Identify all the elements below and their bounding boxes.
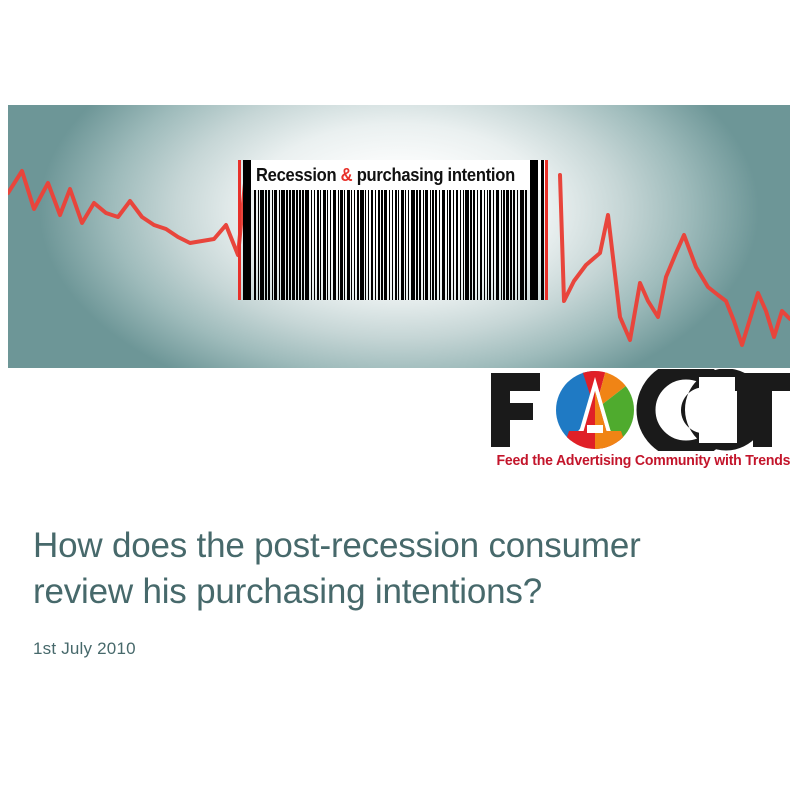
barcode-bar bbox=[401, 190, 404, 300]
barcode-bar bbox=[501, 190, 502, 300]
barcode-bar bbox=[268, 190, 270, 300]
barcode-bar bbox=[378, 190, 380, 300]
logo-letter-a-colorwheel bbox=[541, 369, 647, 451]
barcode-bar bbox=[449, 190, 451, 300]
barcode-bar bbox=[460, 190, 461, 300]
barcode-bar bbox=[453, 190, 454, 300]
barcode-bar bbox=[411, 190, 415, 300]
barcode-bar bbox=[299, 190, 301, 300]
barcode-bar bbox=[510, 190, 511, 300]
barcode-title-ampersand: & bbox=[341, 165, 353, 185]
trend-line-right bbox=[560, 175, 790, 345]
barcode-bar bbox=[517, 190, 518, 300]
barcode-bar bbox=[354, 190, 355, 300]
barcode-bar bbox=[439, 190, 440, 300]
barcode-bar bbox=[360, 190, 364, 300]
barcode-bar bbox=[513, 190, 515, 300]
barcode-bar bbox=[371, 190, 374, 300]
barcode-bar bbox=[305, 190, 309, 300]
barcode-guard-bar-left bbox=[243, 160, 251, 300]
barcode-bar bbox=[506, 190, 509, 300]
barcode-bar bbox=[432, 190, 433, 300]
barcode-bar bbox=[292, 190, 295, 300]
trend-line-left bbox=[8, 171, 246, 255]
barcode-bar bbox=[470, 190, 471, 300]
barcode-bar bbox=[330, 190, 331, 300]
barcode-bar bbox=[405, 190, 406, 300]
barcode-bar bbox=[320, 190, 321, 300]
barcode-bar bbox=[260, 190, 264, 300]
barcode-bar bbox=[435, 190, 437, 300]
barcode-title-prefix: Recession bbox=[256, 165, 341, 185]
barcode-bar bbox=[302, 190, 303, 300]
barcode-bar bbox=[416, 190, 417, 300]
barcode-bar bbox=[489, 190, 491, 300]
barcode-bar bbox=[398, 190, 399, 300]
barcode-bar bbox=[340, 190, 342, 300]
barcode-bar bbox=[392, 190, 393, 300]
barcode-bars bbox=[254, 190, 528, 300]
title-block: How does the post-recession consumer rev… bbox=[33, 523, 763, 659]
barcode-bar bbox=[338, 190, 339, 300]
barcode-bar bbox=[520, 190, 524, 300]
barcode-bar bbox=[480, 190, 483, 300]
barcode-bar bbox=[317, 190, 319, 300]
barcode-bar bbox=[323, 190, 326, 300]
barcode-bar bbox=[484, 190, 485, 300]
barcode-bar bbox=[493, 190, 494, 300]
barcode-red-rail-left bbox=[238, 160, 241, 300]
barcode-bar bbox=[296, 190, 297, 300]
barcode-bar bbox=[314, 190, 315, 300]
barcode-bar bbox=[381, 190, 382, 300]
barcode-bar bbox=[487, 190, 488, 300]
fact-logo: Feed the Advertising Community with Tren… bbox=[489, 369, 791, 479]
barcode-bar bbox=[447, 190, 448, 300]
page-title-line-2: review his purchasing intentions? bbox=[33, 572, 542, 611]
barcode-bar bbox=[344, 190, 345, 300]
page-date: 1st July 2010 bbox=[33, 639, 763, 659]
barcode-bar bbox=[375, 190, 376, 300]
barcode-bar bbox=[430, 190, 431, 300]
barcode-bar bbox=[254, 190, 256, 300]
hero-banner: Recession & purchasing intention bbox=[8, 105, 790, 368]
barcode-guard-bar-right-2 bbox=[541, 160, 544, 300]
barcode-bar bbox=[463, 190, 464, 300]
barcode-bar bbox=[333, 190, 337, 300]
barcode-bar bbox=[456, 190, 459, 300]
barcode-bar bbox=[289, 190, 290, 300]
fact-wordmark bbox=[489, 369, 791, 451]
barcode-title-suffix: purchasing intention bbox=[352, 165, 515, 185]
logo-letter-f bbox=[491, 373, 540, 447]
barcode-red-rail-right bbox=[545, 160, 548, 300]
barcode-bar bbox=[423, 190, 424, 300]
barcode-bar bbox=[395, 190, 397, 300]
barcode-bar bbox=[258, 190, 259, 300]
barcode-graphic: Recession & purchasing intention bbox=[238, 160, 550, 300]
barcode-title-text: Recession & purchasing intention bbox=[256, 161, 515, 189]
barcode-bar bbox=[496, 190, 500, 300]
barcode-bar bbox=[473, 190, 475, 300]
fact-tagline: Feed the Advertising Community with Tren… bbox=[496, 453, 786, 469]
barcode-bar bbox=[365, 190, 366, 300]
page-title: How does the post-recession consumer rev… bbox=[33, 523, 763, 615]
barcode-bar bbox=[389, 190, 390, 300]
barcode-bar bbox=[477, 190, 478, 300]
page-title-line-1: How does the post-recession consumer bbox=[33, 526, 641, 565]
barcode-bar bbox=[327, 190, 328, 300]
barcode-bar bbox=[279, 190, 280, 300]
barcode-bar bbox=[265, 190, 266, 300]
barcode-bar bbox=[503, 190, 504, 300]
barcode-bar bbox=[408, 190, 409, 300]
barcode-bar bbox=[357, 190, 359, 300]
barcode-bar bbox=[272, 190, 273, 300]
barcode-bar bbox=[525, 190, 526, 300]
barcode-bar bbox=[465, 190, 469, 300]
barcode-guard-bar-right bbox=[530, 160, 538, 300]
barcode-bar bbox=[347, 190, 350, 300]
barcode-bar bbox=[368, 190, 369, 300]
barcode-bar bbox=[351, 190, 352, 300]
barcode-bar bbox=[419, 190, 421, 300]
barcode-bar bbox=[384, 190, 388, 300]
barcode-bar bbox=[442, 190, 446, 300]
barcode-bar bbox=[281, 190, 285, 300]
barcode-bar bbox=[274, 190, 277, 300]
barcode-bar bbox=[425, 190, 428, 300]
barcode-bar bbox=[286, 190, 287, 300]
barcode-bar bbox=[311, 190, 312, 300]
